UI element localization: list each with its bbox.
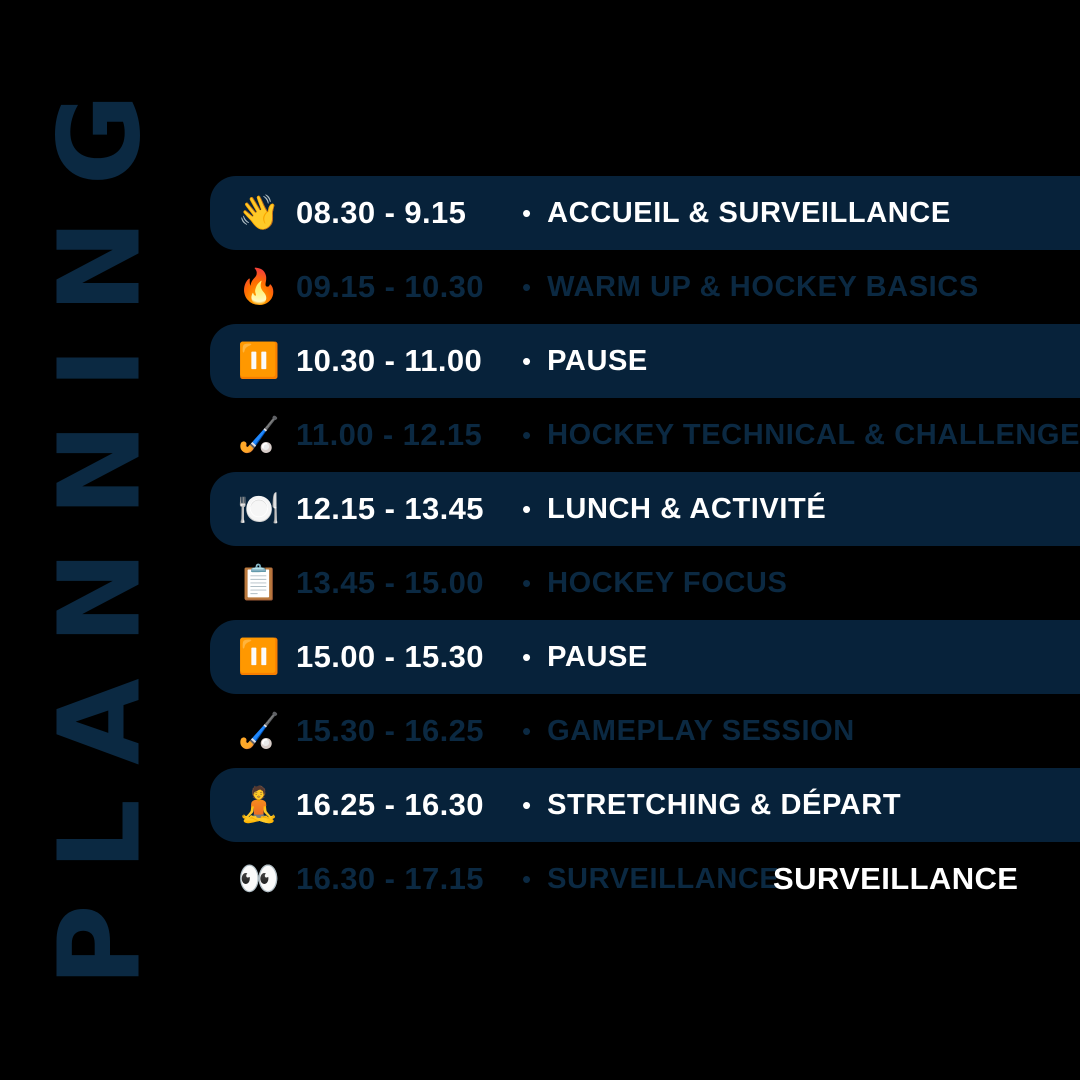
bullet-separator-icon: • [522, 644, 531, 670]
bullet-separator-icon: • [522, 496, 531, 522]
schedule-row-time: 10.30 - 11.00 [296, 343, 496, 379]
bullet-separator-icon: • [522, 348, 531, 374]
fire-emoji: 🔥 [236, 265, 282, 309]
bullet-separator-icon: • [522, 718, 531, 744]
clipboard-emoji: 📋 [236, 561, 282, 605]
schedule-row-time: 16.30 - 17.15 [296, 861, 496, 897]
schedule-row-time: 12.15 - 13.45 [296, 491, 496, 527]
bullet-separator-icon: • [522, 274, 531, 300]
schedule-row-label: SURVEILLANCE [547, 863, 779, 896]
schedule-row[interactable]: 👋08.30 - 9.15•ACCUEIL & SURVEILLANCE [210, 176, 1080, 250]
schedule-row[interactable]: 🏑11.00 - 12.15•HOCKEY TECHNICAL & CHALLE… [210, 398, 1080, 472]
schedule-row-time: 16.25 - 16.30 [296, 787, 496, 823]
schedule-row[interactable]: 📋13.45 - 15.00• HOCKEY FOCUS [210, 546, 1080, 620]
schedule-row-label: PAUSE [547, 641, 648, 674]
schedule-row-label: GAMEPLAY SESSION [547, 715, 855, 748]
schedule-row[interactable]: ⏸️10.30 - 11.00•PAUSE [210, 324, 1080, 398]
schedule-row[interactable]: ⏸️15.00 - 15.30•PAUSE [210, 620, 1080, 694]
schedule-row-label: PAUSE [547, 345, 648, 378]
schedule-row[interactable]: 🍽️12.15 - 13.45•LUNCH & ACTIVITÉ [210, 472, 1080, 546]
schedule-row-label: LUNCH & ACTIVITÉ [547, 493, 826, 526]
page-title: PLANNING [44, 60, 156, 1021]
schedule-row-label: ACCUEIL & SURVEILLANCE [547, 197, 951, 230]
schedule-row-label: WARM UP & HOCKEY BASICS [547, 271, 979, 304]
person-in-lotus-position-emoji: 🧘 [236, 783, 282, 827]
pause-button-emoji: ⏸️ [236, 339, 282, 383]
schedule-row[interactable]: 🏑15.30 - 16.25•GAMEPLAY SESSION [210, 694, 1080, 768]
schedule-row-time: 09.15 - 10.30 [296, 269, 496, 305]
bullet-separator-icon: • [522, 792, 531, 818]
schedule-row-overlay-label: SURVEILLANCE [773, 861, 1018, 897]
schedule-row-time: 15.00 - 15.30 [296, 639, 496, 675]
waving-hand-emoji: 👋 [236, 191, 282, 235]
fork-and-knife-with-plate-emoji: 🍽️ [236, 487, 282, 531]
schedule-row-label: HOCKEY FOCUS [547, 567, 787, 600]
pause-button-emoji: ⏸️ [236, 635, 282, 679]
schedule-row-time: 15.30 - 16.25 [296, 713, 496, 749]
bullet-separator-icon: • [522, 422, 531, 448]
bullet-separator-icon: • [522, 570, 531, 596]
schedule-row-label: STRETCHING & DÉPART [547, 789, 901, 822]
bullet-separator-icon: • [522, 200, 531, 226]
field-hockey-emoji: 🏑 [236, 709, 282, 753]
bullet-separator-icon: • [522, 866, 531, 892]
vertical-page-title: PLANNING [0, 0, 200, 1080]
schedule-row-label: HOCKEY TECHNICAL & CHALLENGE [547, 419, 1080, 452]
eyes-emoji: 👀 [236, 857, 282, 901]
schedule-row-time: 13.45 - 15.00 [296, 565, 496, 601]
schedule-row[interactable]: 🔥09.15 - 10.30•WARM UP & HOCKEY BASICS [210, 250, 1080, 324]
schedule-row-time: 08.30 - 9.15 [296, 195, 496, 231]
schedule-row[interactable]: 👀16.30 - 17.15•SURVEILLANCESURVEILLANCE [210, 842, 1080, 916]
field-hockey-emoji: 🏑 [236, 413, 282, 457]
schedule-list: 👋08.30 - 9.15•ACCUEIL & SURVEILLANCE🔥09.… [210, 176, 1080, 916]
schedule-row-time: 11.00 - 12.15 [296, 417, 496, 453]
schedule-row[interactable]: 🧘16.25 - 16.30•STRETCHING & DÉPART [210, 768, 1080, 842]
